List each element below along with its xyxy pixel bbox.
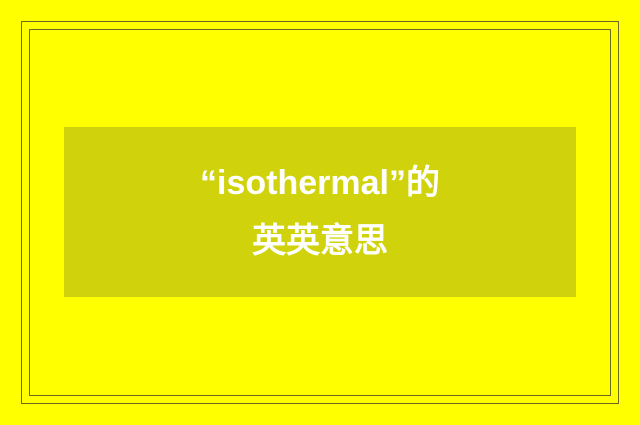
- page-canvas: “isothermal”的英英意思: [0, 0, 640, 425]
- page-title: “isothermal”的英英意思: [190, 154, 450, 270]
- title-banner: “isothermal”的英英意思: [64, 127, 576, 297]
